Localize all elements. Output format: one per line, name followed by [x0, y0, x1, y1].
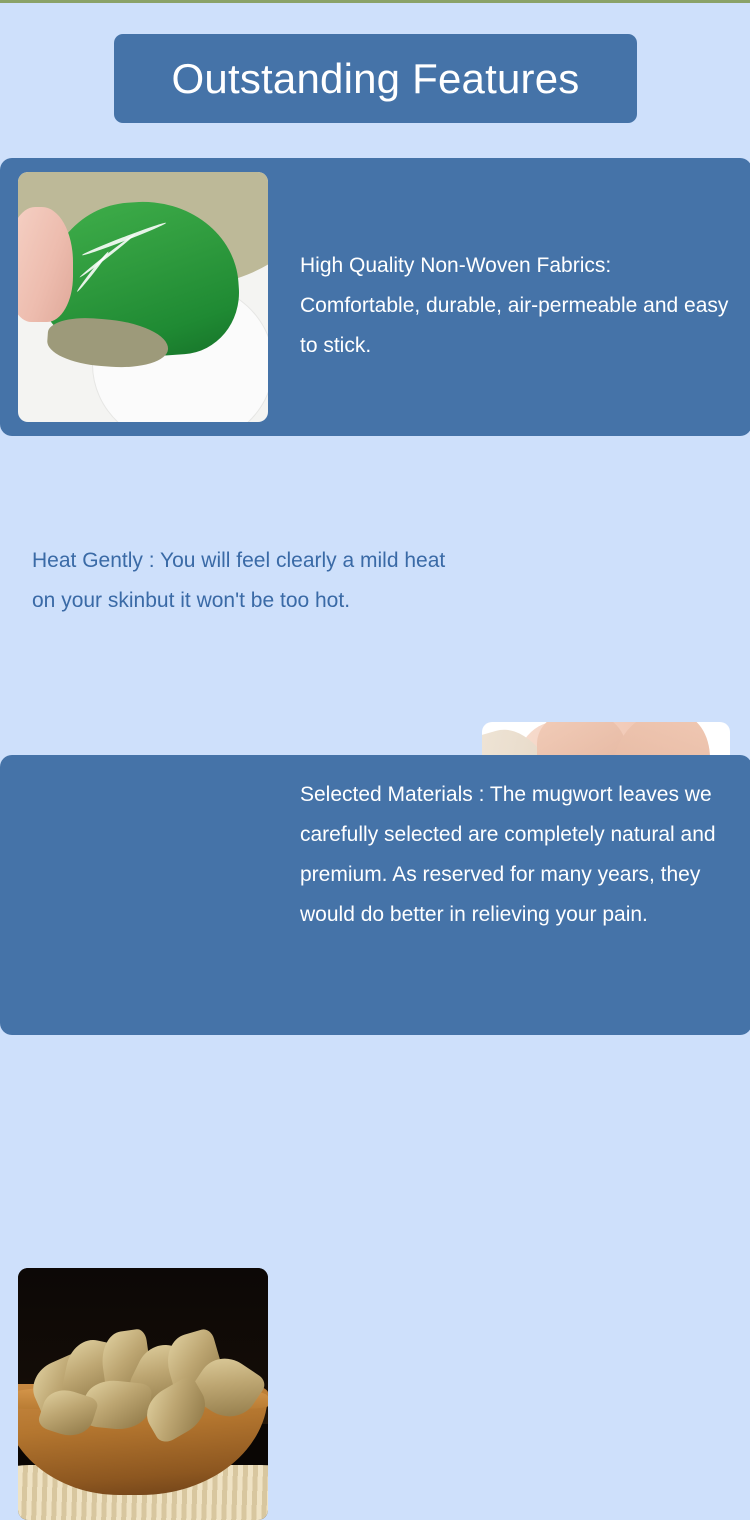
feature-text-heat-gently: Heat Gently : You will feel clearly a mi…	[32, 541, 462, 621]
patch-crease	[79, 233, 136, 279]
mugwort-bowl-photo	[18, 1268, 268, 1520]
feature-text-selected-materials: Selected Materials : The mugwort leaves …	[300, 775, 732, 935]
page-title-banner: Outstanding Features	[114, 34, 637, 123]
page-title: Outstanding Features	[172, 58, 580, 100]
page-header: Outstanding Features	[0, 0, 750, 158]
patch-crease	[76, 251, 110, 293]
dried-mugwort-leaves	[28, 1323, 263, 1444]
feature-text-non-woven-fabrics: High Quality Non-Woven Fabrics: Comforta…	[300, 246, 730, 366]
green-patch-peel-photo	[18, 172, 268, 422]
hand-fingers	[18, 207, 73, 322]
patch-crease	[81, 221, 166, 257]
